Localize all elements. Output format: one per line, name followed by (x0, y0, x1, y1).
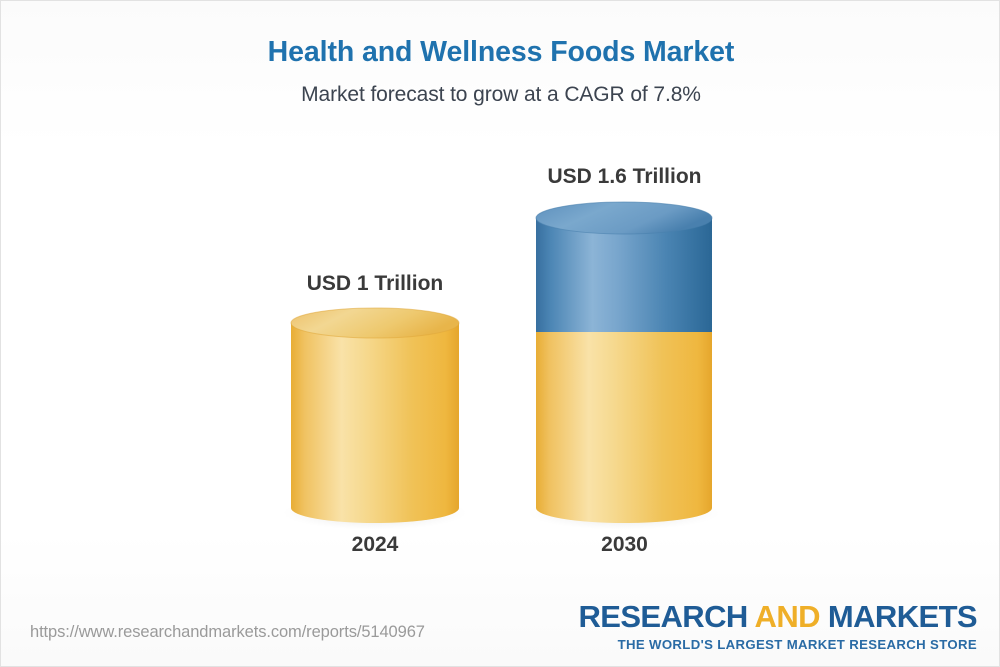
bar-2024-body (291, 323, 459, 523)
brand-word-markets: MARKETS (828, 599, 977, 634)
bar-value-label-2024: USD 1 Trillion (291, 272, 459, 296)
bar-2030-growth-segment (536, 218, 712, 332)
brand-name: RESEARCH AND MARKETS (578, 601, 977, 632)
x-axis-label-2030: 2030 (536, 533, 713, 557)
brand-word-research: RESEARCH (578, 599, 747, 634)
bar-2024[interactable] (283, 308, 467, 530)
bar-2030-base-segment (536, 332, 712, 523)
chart-plot-area: USD 1 Trillion USD 1.6 Trillion 2024 203… (1, 1, 1000, 667)
brand-word-and: AND (755, 599, 820, 634)
cylinder-bar-chart (1, 1, 1000, 667)
infographic-card: Health and Wellness Foods Market Market … (0, 0, 1000, 667)
x-axis-label-2024: 2024 (291, 533, 459, 557)
bar-value-label-2030: USD 1.6 Trillion (536, 165, 713, 189)
source-url[interactable]: https://www.researchandmarkets.com/repor… (30, 623, 425, 642)
brand-logo[interactable]: RESEARCH AND MARKETS THE WORLD'S LARGEST… (578, 601, 977, 652)
bar-2030[interactable] (528, 202, 720, 530)
brand-tagline: THE WORLD'S LARGEST MARKET RESEARCH STOR… (578, 637, 977, 652)
